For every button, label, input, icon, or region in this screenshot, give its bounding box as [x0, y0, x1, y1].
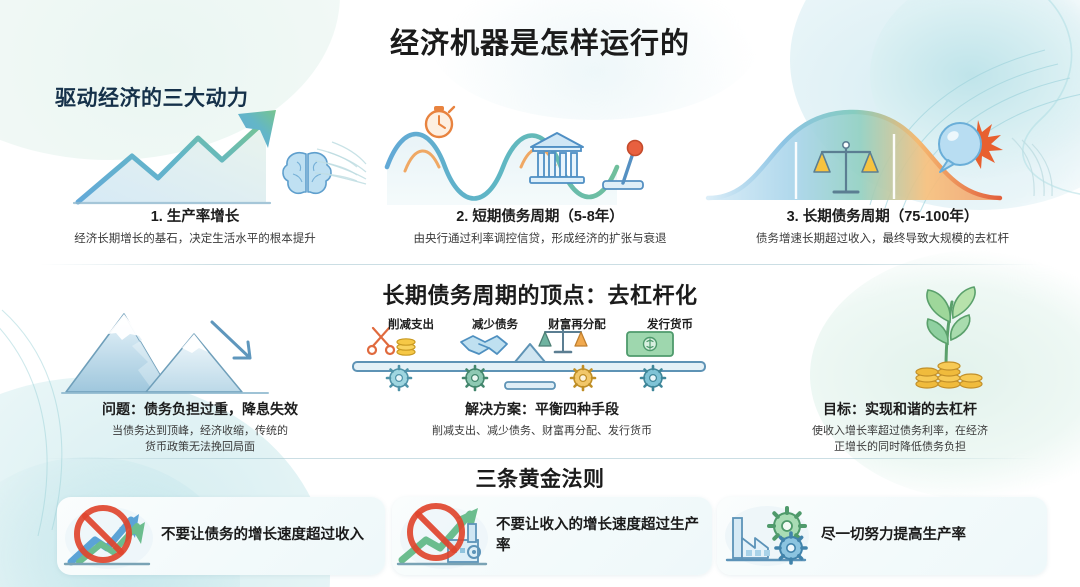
pillar-caption-2: 2. 短期债务周期（5-8年） 由央行通过利率调控信贷，形成经济的扩张与衰退 [365, 208, 715, 247]
infographic-canvas: 经济机器是怎样运行的 驱动经济的三大动力 [0, 0, 1080, 587]
page-title: 经济机器是怎样运行的 [0, 20, 1080, 62]
block-line-3a: 使收入增长率超过债务利率，在经济 [745, 423, 1055, 440]
mountain-peak-icon [62, 300, 292, 398]
block-line-3b: 正增长的同时降低债务负担 [745, 439, 1055, 456]
lever-switch-icon [603, 141, 643, 190]
section-kicker: 驱动经济的三大动力 [55, 82, 249, 112]
no-income-growth-icon [392, 500, 496, 572]
golden-rule-text-3: 尽一切努力提高生产率 [821, 525, 976, 546]
pillar-subtitle-3: 债务增速长期超过收入，最终导致大规模的去杠杆 [705, 231, 1060, 248]
block-line-1a: 当债务达到顶峰，经济收缩，传统的 [50, 423, 350, 440]
golden-rule-card-3[interactable]: 尽一切努力提高生产率 [717, 497, 1047, 575]
golden-rules-title: 三条黄金法则 [0, 463, 1080, 493]
section-divider-top [40, 264, 1040, 265]
rising-arrow-brain-icon [70, 108, 370, 208]
pillar-title-2: 2. 短期债务周期（5-8年） [365, 208, 715, 228]
golden-rule-text-2: 不要让收入的增长速度超过生产率 [496, 515, 712, 557]
block-line-2a: 削减支出、减少债务、财富再分配、发行货币 [392, 423, 692, 440]
tool-label-1: 削减支出 [368, 316, 454, 332]
banknote-icon [627, 332, 673, 356]
section-divider-bottom [40, 458, 1040, 459]
deleveraging-band-title: 长期债务周期的顶点：去杠杆化 [0, 278, 1080, 310]
coin-stacks-icon [916, 362, 982, 388]
wave-bank-stopwatch-icon [385, 105, 705, 210]
pillar-caption-3: 3. 长期债务周期（75-100年） 债务增速长期超过收入，最终导致大规模的去杠… [705, 208, 1060, 247]
block-line-1b: 货币政策无法挽回局面 [50, 439, 350, 456]
scissors-coins-icon [368, 328, 415, 355]
stopwatch-icon [426, 106, 454, 137]
factory-gears-icon [717, 500, 821, 572]
golden-rule-card-1[interactable]: 不要让债务的增长速度超过收入 [57, 497, 385, 575]
block-title-3: 目标：实现和谐的去杠杆 [745, 400, 1055, 420]
golden-rule-text-1: 不要让债务的增长速度超过收入 [161, 525, 374, 546]
tool-label-3: 财富再分配 [534, 316, 620, 332]
brain-icon [283, 153, 331, 194]
no-debt-growth-icon [57, 500, 161, 572]
deleveraging-block-1: 问题：债务负担过重，降息失效 当债务达到顶峰，经济收缩，传统的 货币政策无法挽回… [50, 400, 350, 456]
pillar-title-3: 3. 长期债务周期（75-100年） [705, 208, 1060, 228]
pillar-caption-1: 1. 生产率增长 经济长期增长的基石，决定生活水平的根本提升 [30, 208, 360, 247]
bursting-bubble-icon [939, 120, 1003, 172]
block-title-2: 解决方案：平衡四种手段 [392, 400, 692, 420]
balance-beam-gears-icon [355, 322, 705, 402]
deleveraging-block-2: 解决方案：平衡四种手段 削减支出、减少债务、财富再分配、发行货币 [392, 400, 692, 439]
deleveraging-block-3: 目标：实现和谐的去杠杆 使收入增长率超过债务利率，在经济 正增长的同时降低债务负… [745, 400, 1055, 456]
golden-rule-card-2[interactable]: 不要让收入的增长速度超过生产率 [392, 497, 712, 575]
pillar-subtitle-2: 由央行通过利率调控信贷，形成经济的扩张与衰退 [365, 231, 715, 248]
pillar-title-1: 1. 生产率增长 [30, 208, 360, 228]
tool-label-4: 发行货币 [627, 316, 713, 332]
tool-label-2: 减少债务 [452, 316, 538, 332]
block-title-1: 问题：债务负担过重，降息失效 [50, 400, 350, 420]
pillar-subtitle-1: 经济长期增长的基石，决定生活水平的根本提升 [30, 231, 360, 248]
handshake-icon [461, 336, 507, 354]
bell-curve-scale-bubble-icon [700, 100, 1060, 210]
